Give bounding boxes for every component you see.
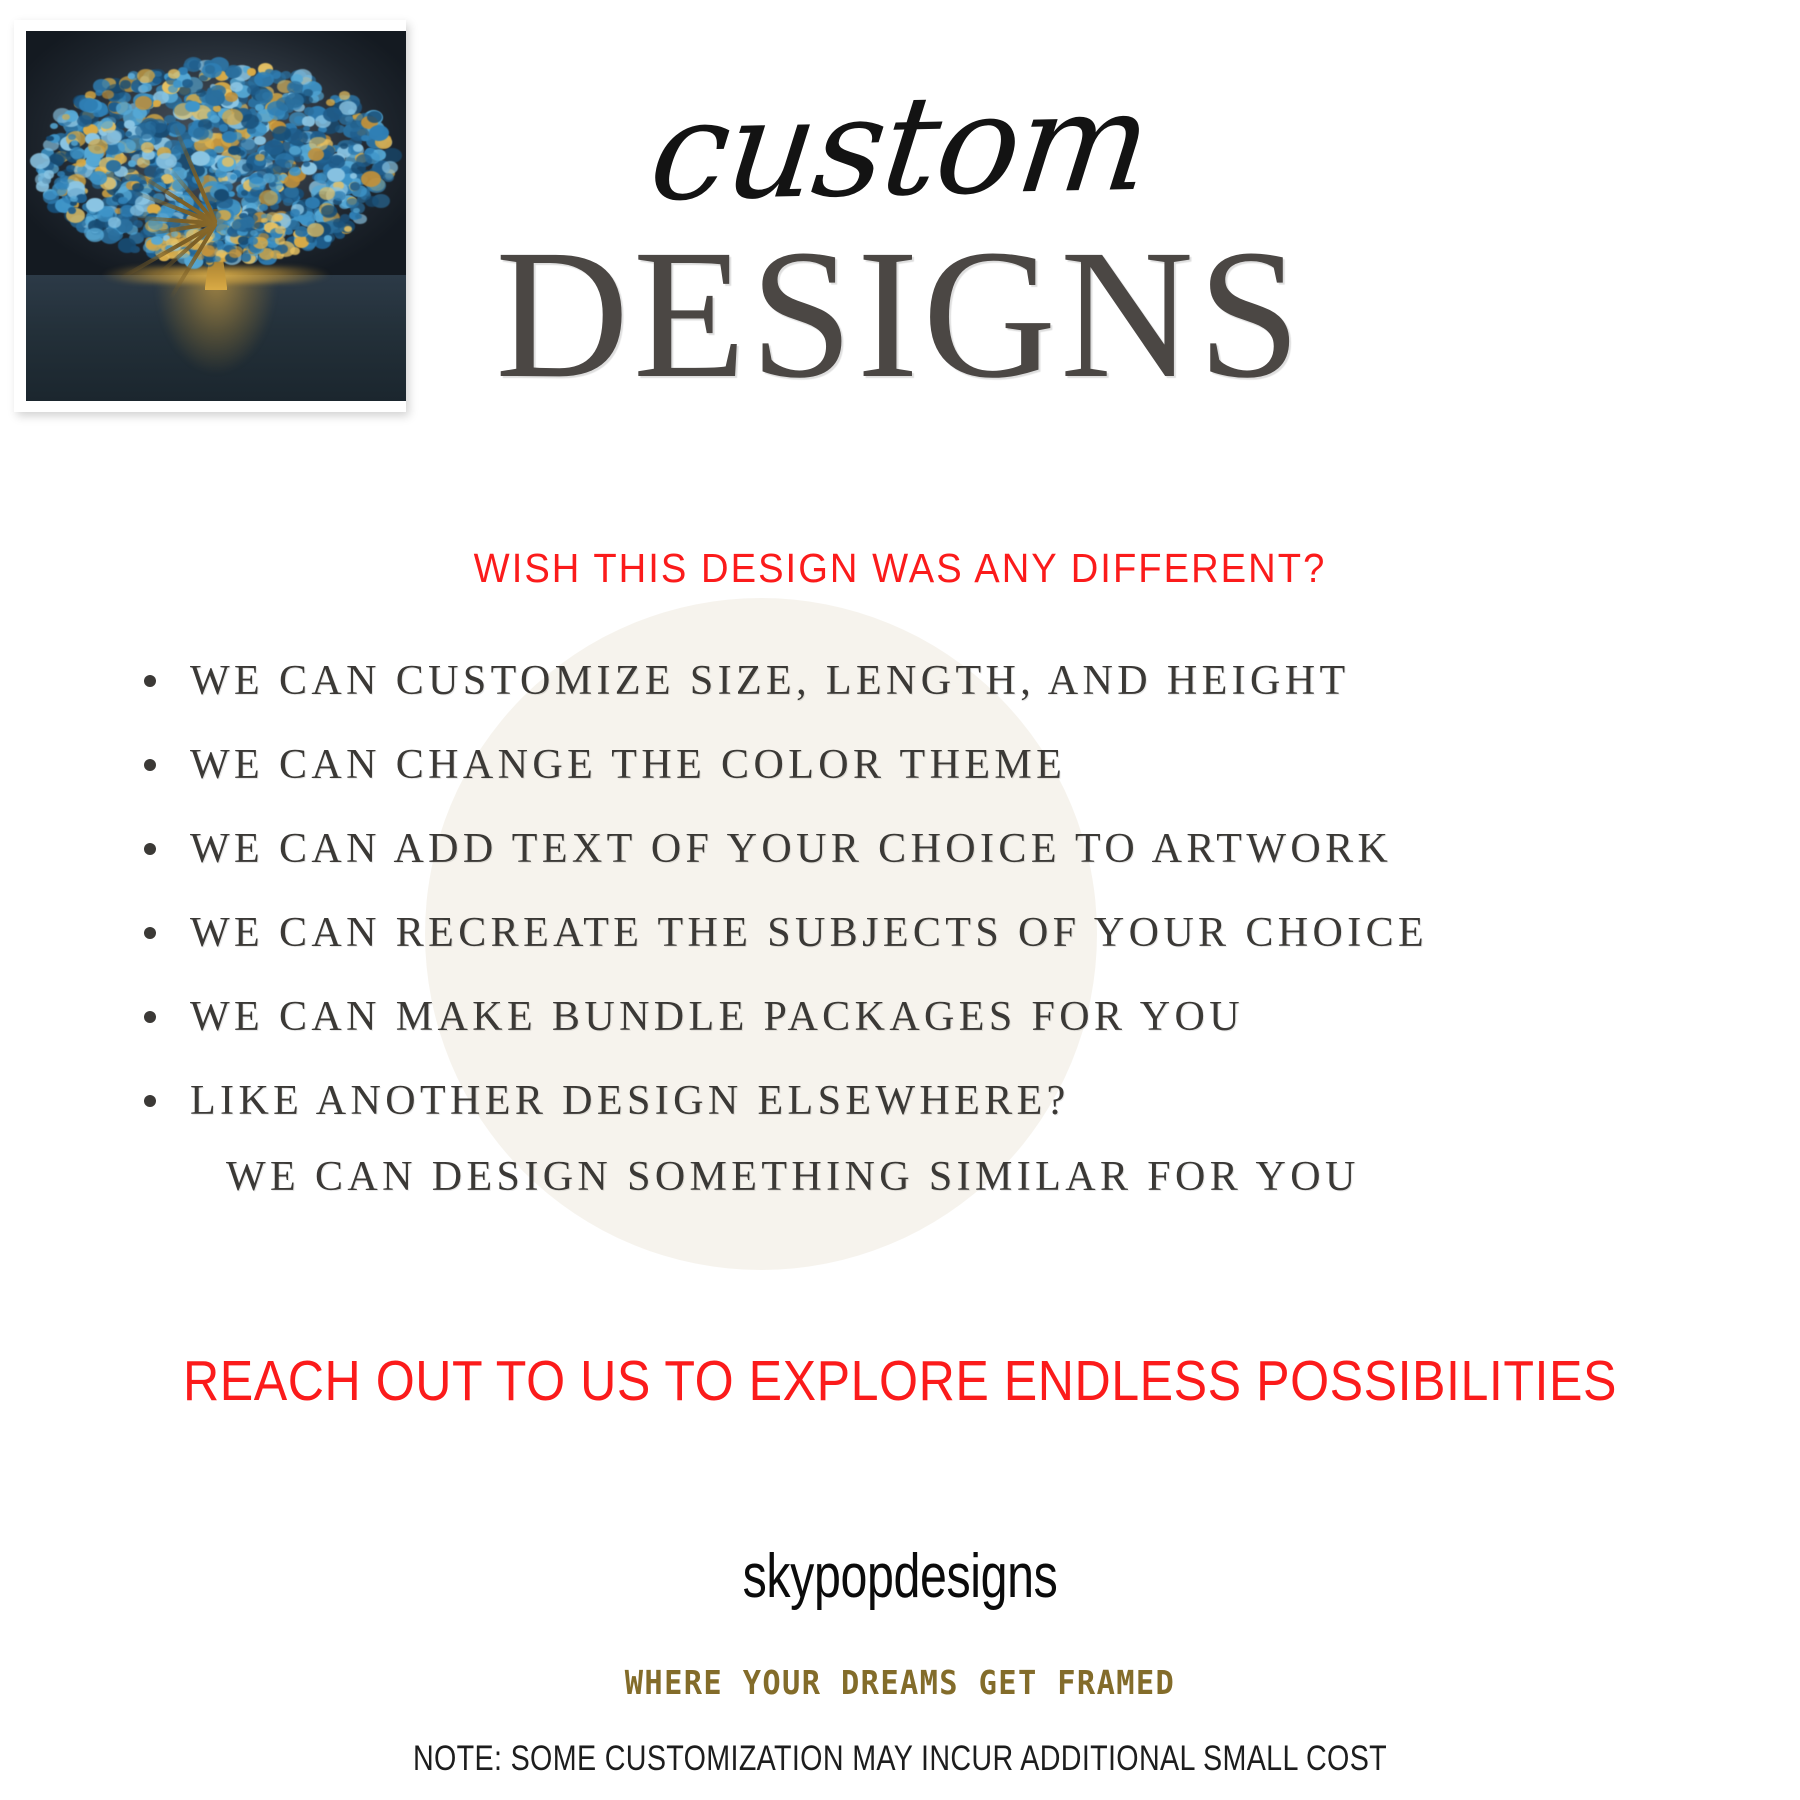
artwork-leaf	[205, 90, 225, 106]
page-title: DESIGNS	[400, 222, 1400, 407]
artwork-leaf	[365, 196, 379, 207]
feature-list-item: WE CAN RECREATE THE SUBJECTS OF YOUR CHO…	[140, 912, 1670, 954]
artwork-leaf	[214, 189, 229, 201]
artwork-leaf	[276, 97, 294, 111]
artwork-leaf	[254, 136, 265, 145]
artwork-leaf	[289, 167, 301, 176]
artwork-leaf	[241, 190, 249, 196]
bullet-dot-icon	[144, 1011, 156, 1023]
artwork-leaf	[124, 120, 135, 129]
artwork-leaf	[46, 136, 53, 142]
artwork-leaf	[168, 69, 180, 79]
artwork-leaf	[50, 123, 59, 130]
artwork-leaf	[220, 230, 226, 235]
artwork-leaf	[106, 160, 121, 172]
artwork-leaf	[135, 123, 155, 139]
artwork-leaf	[255, 104, 264, 111]
artwork-leaf	[263, 173, 275, 183]
artwork-leaf	[294, 155, 304, 163]
artwork-leaf	[273, 159, 291, 174]
artwork-leaf	[353, 144, 363, 152]
artwork-leaf	[151, 236, 163, 245]
artwork-leaf	[247, 85, 259, 95]
artwork-leaf	[130, 205, 144, 216]
bullet-dot-icon	[144, 759, 156, 771]
feature-list-item: LIKE ANOTHER DESIGN ELSEWHERE?	[140, 1080, 1670, 1122]
artwork-leaf	[281, 71, 290, 79]
call-to-action-text: REACH OUT TO US TO EXPLORE ENDLESS POSSI…	[108, 1348, 1692, 1414]
artwork-leaf	[70, 196, 78, 202]
artwork-leaf	[226, 67, 240, 78]
artwork-leaf	[222, 131, 237, 143]
feature-list-item-label: LIKE ANOTHER DESIGN ELSEWHERE?	[190, 1078, 1070, 1124]
feature-list-item: WE CAN ADD TEXT OF YOUR CHOICE TO ARTWOR…	[140, 828, 1670, 870]
artwork-leaf	[340, 143, 348, 149]
feature-list-item-label: WE CAN RECREATE THE SUBJECTS OF YOUR CHO…	[190, 910, 1428, 956]
artwork-leaf	[191, 151, 210, 166]
artwork-leaf	[86, 228, 104, 242]
artwork-leaf	[56, 179, 69, 189]
artwork-leaf	[290, 247, 301, 256]
artwork-leaf	[254, 222, 263, 229]
artwork-leaf	[264, 156, 272, 163]
artwork-leaf	[77, 166, 86, 173]
artwork-leaf	[247, 68, 256, 75]
feature-list-item-label: WE CAN ADD TEXT OF YOUR CHOICE TO ARTWOR…	[190, 826, 1392, 872]
artwork-leaf	[274, 214, 283, 221]
artwork-leaf	[156, 153, 176, 169]
artwork-leaf	[137, 69, 154, 83]
artwork-leaf	[30, 153, 50, 169]
artwork-leaf	[259, 204, 267, 211]
artwork-leaf	[319, 187, 335, 200]
artwork-leaf	[116, 102, 131, 114]
artwork-leaf	[353, 208, 360, 213]
bullet-dot-icon	[144, 675, 156, 687]
artwork-leaf	[102, 90, 114, 99]
artwork-leaf	[44, 170, 54, 178]
artwork-leaf	[153, 71, 161, 77]
artwork-leaf	[153, 100, 161, 106]
artwork-leaf	[71, 140, 78, 146]
artwork-leaf	[118, 238, 136, 253]
artwork-leaf	[264, 140, 284, 156]
artwork-leaf	[70, 147, 84, 158]
artwork-leaf	[189, 60, 201, 70]
artwork-leaf	[307, 223, 324, 236]
poster-canvas: custom DESIGNS WISH THIS DESIGN WAS ANY …	[0, 0, 1800, 1800]
bullet-dot-icon	[144, 927, 156, 939]
artwork-frame	[14, 20, 406, 412]
artwork-leaf	[361, 135, 369, 142]
artwork-leaf	[284, 175, 300, 188]
brand-tagline: WHERE YOUR DREAMS GET FRAMED	[72, 1663, 1728, 1702]
brand-logo-text: skypopdesigns	[198, 1541, 1602, 1612]
title-script: custom	[390, 68, 1409, 227]
feature-list-item-label: WE CAN CHANGE THE COLOR THEME	[190, 742, 1066, 788]
artwork-leaf	[326, 99, 334, 106]
artwork-leaf	[225, 92, 238, 102]
subtitle-question: WISH THIS DESIGN WAS ANY DIFFERENT?	[63, 545, 1737, 592]
artwork-leaf	[287, 81, 303, 94]
artwork-leaf	[241, 114, 259, 129]
artwork-leaf	[382, 161, 398, 174]
bullet-dot-icon	[144, 1095, 156, 1107]
artwork-leaf	[248, 237, 258, 245]
artwork-leaf	[68, 207, 76, 213]
footnote-text: NOTE: SOME CUSTOMIZATION MAY INCUR ADDIT…	[162, 1739, 1638, 1779]
artwork-leaf	[333, 191, 346, 201]
feature-list-item: WE CAN MAKE BUNDLE PACKAGES FOR YOU	[140, 996, 1670, 1038]
headline-block: custom DESIGNS	[400, 78, 1400, 407]
artwork-leaf	[356, 154, 372, 167]
artwork-leaf	[141, 142, 154, 153]
bullet-dot-icon	[144, 843, 156, 855]
artwork-leaf	[324, 235, 332, 241]
feature-list-item-label: WE CAN DESIGN SOMETHING SIMILAR FOR YOU	[226, 1154, 1360, 1200]
artwork-leaf	[100, 118, 113, 129]
feature-list-item: WE CAN DESIGN SOMETHING SIMILAR FOR YOU	[140, 1156, 1670, 1198]
feature-list-item: WE CAN CHANGE THE COLOR THEME	[140, 744, 1670, 786]
artwork-leaf	[76, 159, 86, 167]
artwork-leaf	[295, 226, 308, 236]
artwork-leaf	[222, 109, 242, 125]
feature-list-item-label: WE CAN CUSTOMIZE SIZE, LENGTH, AND HEIGH…	[190, 658, 1350, 704]
artwork-leaf	[303, 96, 313, 104]
feature-list-item: WE CAN CUSTOMIZE SIZE, LENGTH, AND HEIGH…	[140, 660, 1670, 702]
artwork-leaf	[303, 161, 310, 167]
artwork-leaf	[90, 171, 107, 185]
artwork-leaf	[230, 174, 238, 180]
artwork-leaf	[141, 83, 153, 92]
artwork-leaf	[214, 146, 224, 154]
artwork-leaf	[241, 253, 252, 261]
artwork-leaf	[383, 173, 394, 182]
feature-list-item-label: WE CAN MAKE BUNDLE PACKAGES FOR YOU	[190, 994, 1244, 1040]
feature-list: WE CAN CUSTOMIZE SIZE, LENGTH, AND HEIGH…	[140, 660, 1670, 1240]
artwork-leaf	[254, 72, 273, 87]
artwork-leaf	[79, 98, 97, 113]
artwork-leaf	[339, 101, 356, 115]
artwork-leaf	[205, 65, 216, 74]
artwork-leaf	[311, 91, 323, 101]
artwork-leaf	[228, 146, 240, 156]
tree-painting-artwork	[26, 31, 406, 401]
artwork-leaf	[350, 182, 360, 190]
artwork-leaf	[290, 209, 300, 217]
artwork-leaf	[229, 249, 241, 258]
